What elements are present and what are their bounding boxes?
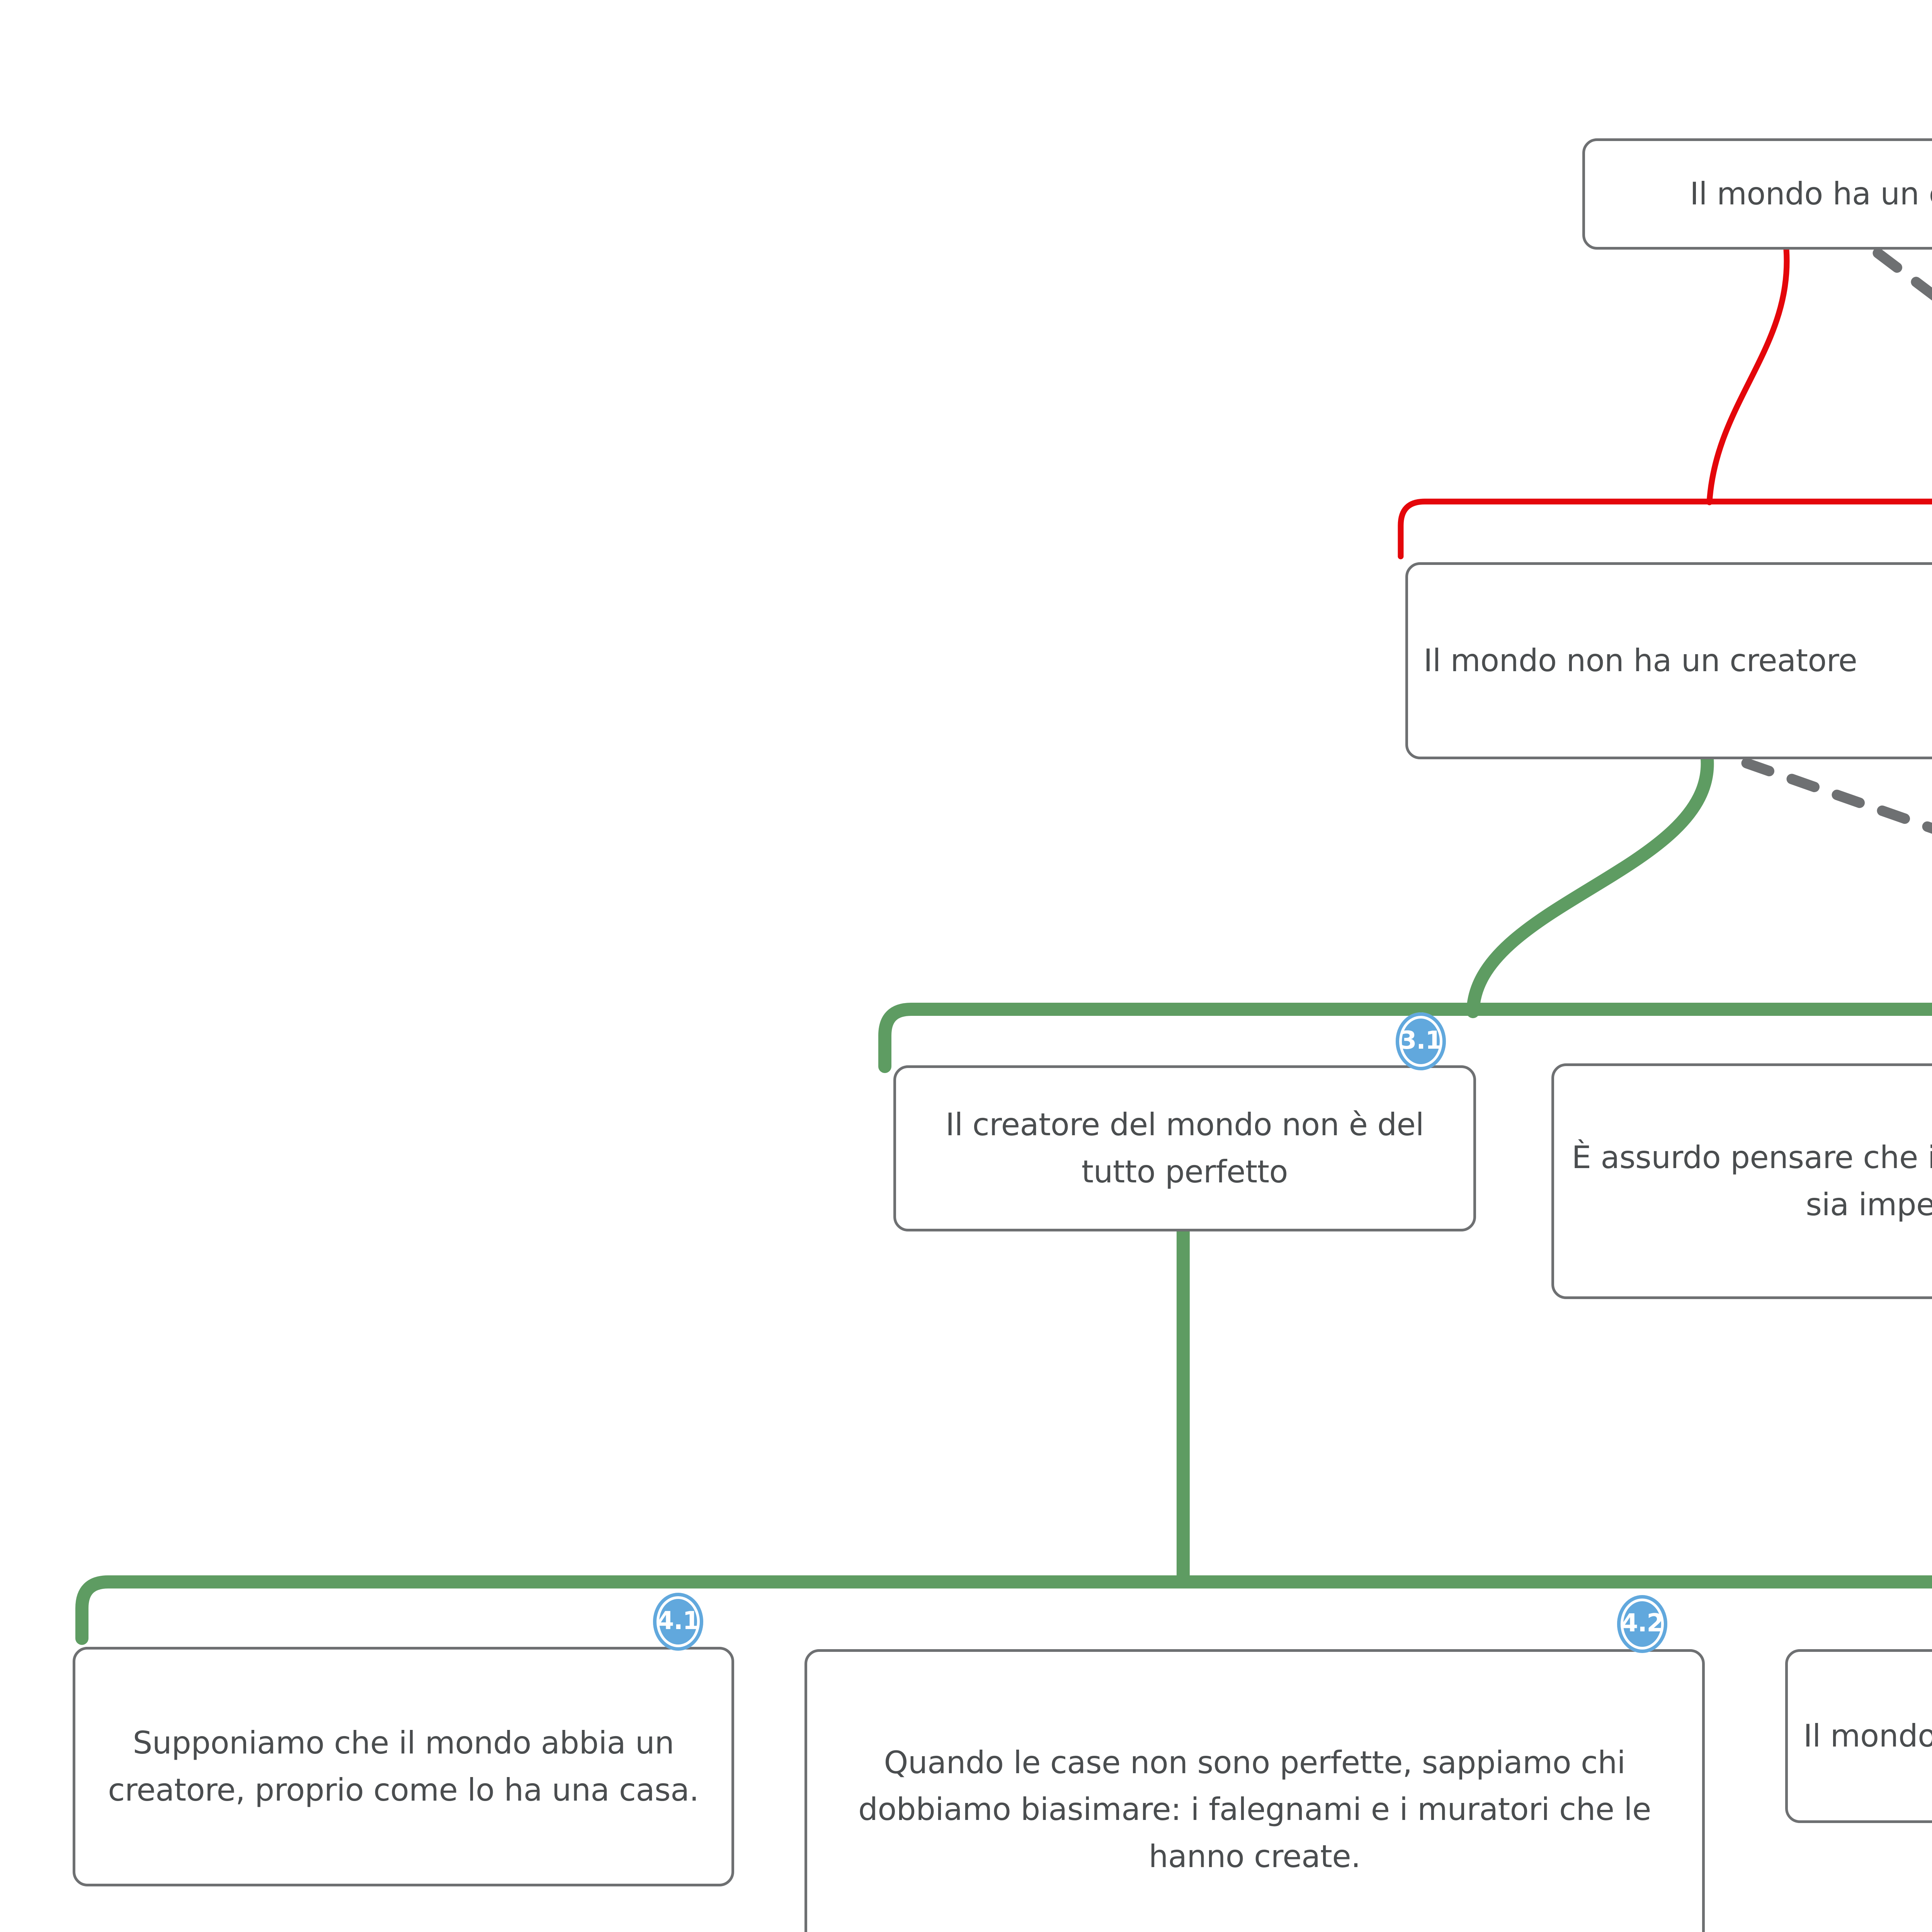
argument-node-4-3[interactable]: Il mondo non è perfetto [1785, 1649, 1932, 1823]
argument-node-4-3-text: Il mondo non è perfetto [1788, 1713, 1932, 1760]
argument-node-3-2[interactable]: È assurdo pensare che il creatore del mo… [1551, 1063, 1932, 1299]
connector-1-1-to-2-1-curve [1709, 249, 1787, 502]
argument-node-1-1-text: Il mondo ha un creatore [1585, 170, 1932, 218]
bracket-red-level2 [1401, 502, 1932, 556]
argument-node-3-1[interactable]: Il creatore del mondo non è del tutto pe… [893, 1065, 1476, 1231]
node-badge-3-1: 3.1 [1396, 1012, 1446, 1070]
diagram-canvas: Il mondo ha un creatore 1.1 Il mondo non… [0, 0, 1932, 1932]
connector-2-1-to-level3-curve [1473, 758, 1708, 1012]
argument-node-1-1[interactable]: Il mondo ha un creatore [1582, 138, 1932, 250]
argument-node-4-1[interactable]: Supponiamo che il mondo abbia un creator… [73, 1647, 734, 1886]
connector-1-1-to-antitesi-dashed [1878, 253, 1932, 504]
argument-node-2-1-text: Il mondo non ha un creatore [1408, 637, 1932, 684]
argument-node-4-2-text: Quando le case non sono perfette, sappia… [807, 1739, 1702, 1880]
argument-node-4-1-text: Supponiamo che il mondo abbia un creator… [75, 1719, 731, 1813]
argument-node-2-1[interactable]: Il mondo non ha un creatore [1405, 562, 1932, 759]
argument-node-3-2-text: È assurdo pensare che il creatore del mo… [1554, 1134, 1932, 1228]
node-badge-4-1: 4.1 [653, 1593, 703, 1651]
connector-2-1-to-tesi-dashed [1747, 763, 1932, 1009]
argument-node-4-2[interactable]: Quando le case non sono perfette, sappia… [804, 1649, 1705, 1932]
argument-node-3-1-text: Il creatore del mondo non è del tutto pe… [896, 1101, 1473, 1195]
node-badge-4-2: 4.2 [1617, 1595, 1667, 1653]
